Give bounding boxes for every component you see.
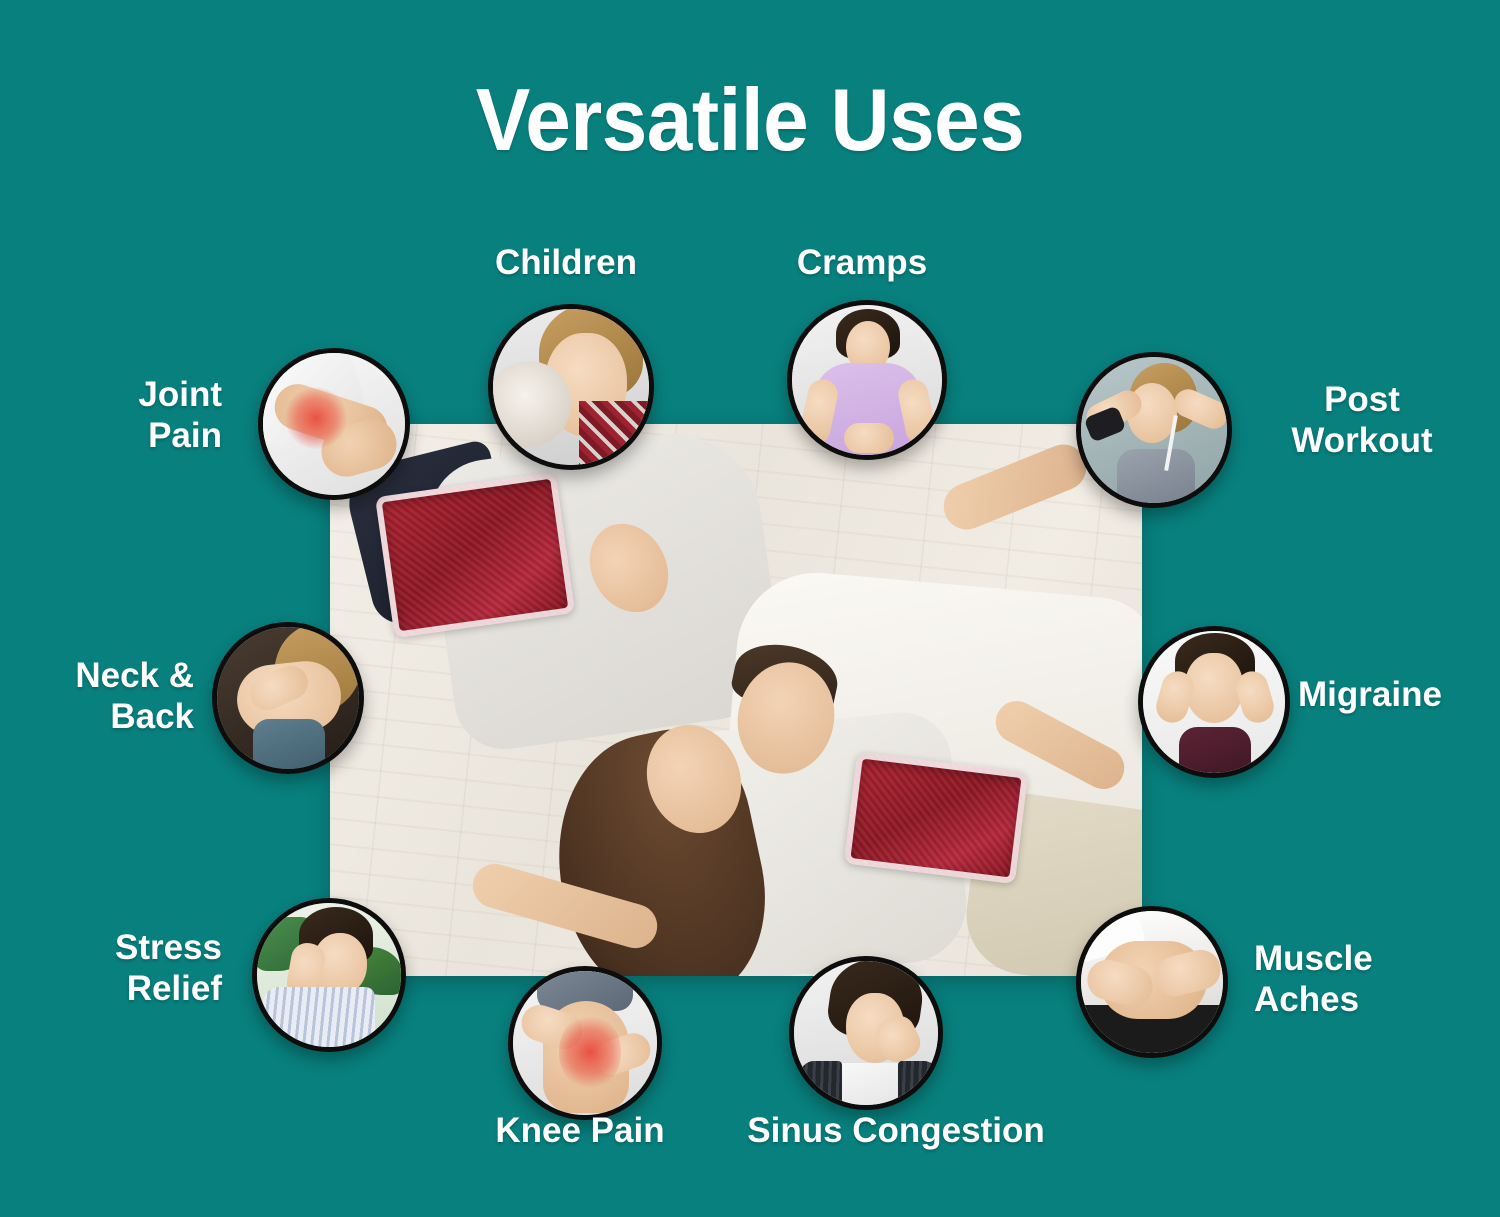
heating-pad-man — [844, 752, 1028, 884]
label-joint-pain: Joint Pain — [28, 374, 222, 457]
label-knee-pain: Knee Pain — [460, 1110, 700, 1151]
cramps-photo — [792, 305, 942, 455]
post-workout-photo — [1081, 357, 1227, 503]
joint-pain-photo — [263, 353, 405, 495]
use-bubble-post-workout[interactable] — [1076, 352, 1232, 508]
label-post-workout: Post Workout — [1248, 379, 1476, 462]
use-bubble-sinus-congestion[interactable] — [789, 956, 943, 1110]
versatile-uses-infographic: Versatile Uses — [0, 0, 1500, 1217]
use-bubble-muscle-aches[interactable] — [1076, 906, 1228, 1058]
heating-pad-child — [375, 472, 575, 638]
use-bubble-migraine[interactable] — [1138, 626, 1290, 778]
migraine-photo — [1143, 631, 1285, 773]
page-title: Versatile Uses — [53, 76, 1448, 164]
muscle-aches-photo — [1081, 911, 1223, 1053]
use-bubble-knee-pain[interactable] — [508, 966, 662, 1120]
label-stress-relief: Stress Relief — [60, 927, 222, 1010]
label-migraine: Migraine — [1298, 674, 1498, 715]
label-sinus-congestion: Sinus Congestion — [716, 1110, 1076, 1151]
use-bubble-stress-relief[interactable] — [252, 898, 406, 1052]
children-photo — [493, 309, 649, 465]
stress-relief-photo — [257, 903, 401, 1047]
knee-pain-photo — [513, 971, 657, 1115]
use-bubble-neck-back[interactable] — [212, 622, 364, 774]
neck-back-photo — [217, 627, 359, 769]
label-children: Children — [446, 242, 686, 283]
label-cramps: Cramps — [742, 242, 982, 283]
use-bubble-cramps[interactable] — [787, 300, 947, 460]
sinus-congestion-photo — [794, 961, 938, 1105]
label-neck-back: Neck & Back — [8, 655, 194, 738]
use-bubble-children[interactable] — [488, 304, 654, 470]
label-muscle-aches: Muscle Aches — [1254, 938, 1468, 1021]
center-product-photo — [330, 424, 1142, 976]
use-bubble-joint-pain[interactable] — [258, 348, 410, 500]
